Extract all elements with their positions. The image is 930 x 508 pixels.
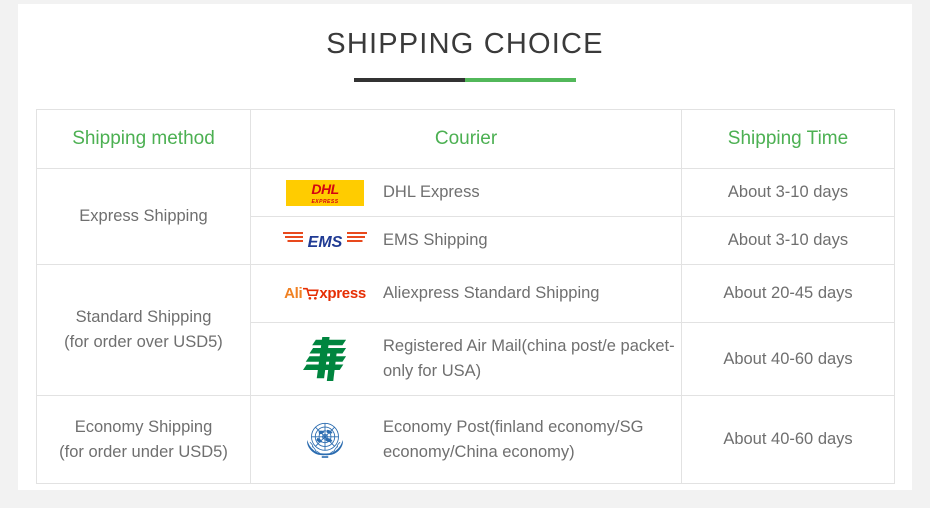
shipping-table-wrapper: Shipping method Courier Shipping Time Ex… xyxy=(36,109,894,484)
header-shipping-time: Shipping Time xyxy=(682,110,895,169)
ems-logo: EMS xyxy=(275,227,375,255)
courier-cell-china-post: Registered Air Mail(china post/e packet-… xyxy=(251,323,682,396)
table-header: Shipping method Courier Shipping Time xyxy=(37,110,895,169)
header-courier: Courier xyxy=(251,110,682,169)
title-underline-dark xyxy=(354,78,465,82)
shipping-table: Shipping method Courier Shipping Time Ex… xyxy=(36,109,895,484)
courier-cell-aliexpress: Ali xpress xyxy=(251,265,682,323)
courier-label: EMS Shipping xyxy=(375,228,488,253)
dhl-logo: DHL EXPRESS xyxy=(275,180,375,206)
table-body: Express Shipping DHL EXPRESS DHL Express xyxy=(37,169,895,484)
svg-text:EMS: EMS xyxy=(308,234,343,251)
method-note: (for order over USD5) xyxy=(41,330,246,355)
aliexpress-logo: Ali xpress xyxy=(275,285,375,302)
header-shipping-method: Shipping method xyxy=(37,110,251,169)
time-cell: About 3-10 days xyxy=(682,217,895,265)
method-label: Economy Shipping xyxy=(41,415,246,440)
china-post-logo xyxy=(275,337,375,381)
method-cell-economy: Economy Shipping (for order under USD5) xyxy=(37,396,251,484)
title-underline-green xyxy=(465,78,576,82)
time-cell: About 40-60 days xyxy=(682,396,895,484)
title-block: SHIPPING CHOICE xyxy=(18,4,912,82)
table-row: Economy Shipping (for order under USD5) xyxy=(37,396,895,484)
aliexpress-logo-prefix: Ali xyxy=(284,285,302,302)
shopping-cart-icon xyxy=(303,286,319,301)
method-label: Express Shipping xyxy=(79,207,207,225)
courier-label: Economy Post(finland economy/SG economy/… xyxy=(375,415,681,465)
method-note: (for order under USD5) xyxy=(41,440,246,465)
time-cell: About 20-45 days xyxy=(682,265,895,323)
courier-label: Registered Air Mail(china post/e packet-… xyxy=(375,334,681,384)
courier-label: DHL Express xyxy=(375,180,480,205)
method-cell-express: Express Shipping xyxy=(37,169,251,265)
dhl-logo-text: DHL xyxy=(286,181,364,197)
shipping-card: SHIPPING CHOICE Shipping method Courier … xyxy=(18,4,912,490)
method-cell-standard: Standard Shipping (for order over USD5) xyxy=(37,265,251,396)
courier-label: Aliexpress Standard Shipping xyxy=(375,281,599,306)
aliexpress-logo-suffix: xpress xyxy=(319,285,366,302)
courier-cell-un: Economy Post(finland economy/SG economy/… xyxy=(251,396,682,484)
table-row: Express Shipping DHL EXPRESS DHL Express xyxy=(37,169,895,217)
title-underline xyxy=(354,78,576,82)
time-cell: About 40-60 days xyxy=(682,323,895,396)
method-label: Standard Shipping xyxy=(41,305,246,330)
courier-cell-dhl: DHL EXPRESS DHL Express xyxy=(251,169,682,217)
courier-cell-ems: EMS EMS Shipping xyxy=(251,217,682,265)
table-header-row: Shipping method Courier Shipping Time xyxy=(37,110,895,169)
un-logo xyxy=(275,413,375,467)
table-row: Standard Shipping (for order over USD5) … xyxy=(37,265,895,323)
page-title: SHIPPING CHOICE xyxy=(18,29,912,61)
time-cell: About 3-10 days xyxy=(682,169,895,217)
dhl-logo-subtext: EXPRESS xyxy=(286,199,364,205)
